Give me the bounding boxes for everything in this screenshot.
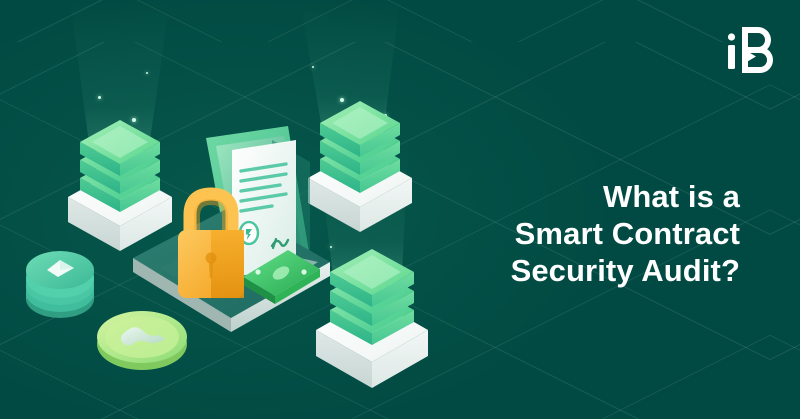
coin-single	[97, 311, 187, 370]
padlock	[178, 194, 244, 298]
coin-stack	[26, 251, 94, 318]
ib-monogram-icon	[720, 20, 778, 76]
banner-root: What is a Smart Contract Security Audit?	[0, 0, 800, 419]
ib-logo[interactable]	[720, 20, 778, 76]
block-stack-left	[68, 120, 172, 251]
block-stack-top	[308, 101, 412, 232]
page-title: What is a Smart Contract Security Audit?	[410, 178, 740, 289]
